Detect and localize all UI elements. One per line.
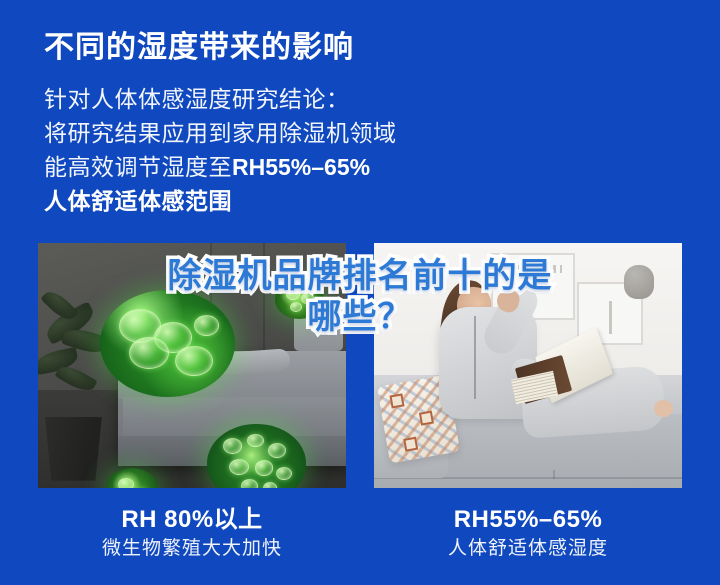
caption-subtitle: 人体舒适体感湿度 [374, 535, 682, 563]
intro-line-2: 将研究结果应用到家用除湿机领域 [44, 116, 664, 150]
caption-comfort-humidity: RH55%–65% 人体舒适体感湿度 [374, 505, 682, 563]
wall-speaker [624, 265, 654, 299]
caption-subtitle: 微生物繁殖大大加快 [38, 535, 346, 563]
wall-art-detail [504, 265, 562, 273]
intro-line-3: 能高效调节湿度至RH55%–65% [44, 150, 664, 184]
intro-paragraph: 针对人体体感湿度研究结论： 将研究结果应用到家用除湿机领域 能高效调节湿度至RH… [44, 82, 664, 218]
infographic-poster: 不同的湿度带来的影响 针对人体体感湿度研究结论： 将研究结果应用到家用除湿机领域… [0, 0, 720, 585]
sofa-seam [553, 470, 555, 479]
photo-high-humidity [38, 243, 346, 488]
wall-art-detail [609, 301, 612, 334]
caption-row: RH 80%以上 微生物繁殖大大加快 RH55%–65% 人体舒适体感湿度 [38, 505, 682, 563]
garment-zipper [474, 316, 476, 399]
bacteria-cluster-small [275, 280, 324, 319]
photo-row [38, 243, 682, 488]
caption-title: RH55%–65% [374, 505, 682, 535]
photo-comfort-humidity [374, 243, 682, 488]
caption-high-humidity: RH 80%以上 微生物繁殖大大加快 [38, 505, 346, 563]
intro-line-3-highlight: RH55%–65% [232, 154, 370, 180]
page-title: 不同的湿度带来的影响 [44, 22, 354, 66]
woman-foot [654, 400, 672, 417]
intro-line-3-text: 能高效调节湿度至 [44, 154, 232, 180]
plant-pot [41, 417, 106, 481]
intro-line-4: 人体舒适体感范围 [44, 184, 664, 218]
intro-line-1: 针对人体体感湿度研究结论： [44, 82, 664, 116]
caption-title: RH 80%以上 [38, 505, 346, 535]
bacteria-cluster-large [100, 290, 236, 398]
